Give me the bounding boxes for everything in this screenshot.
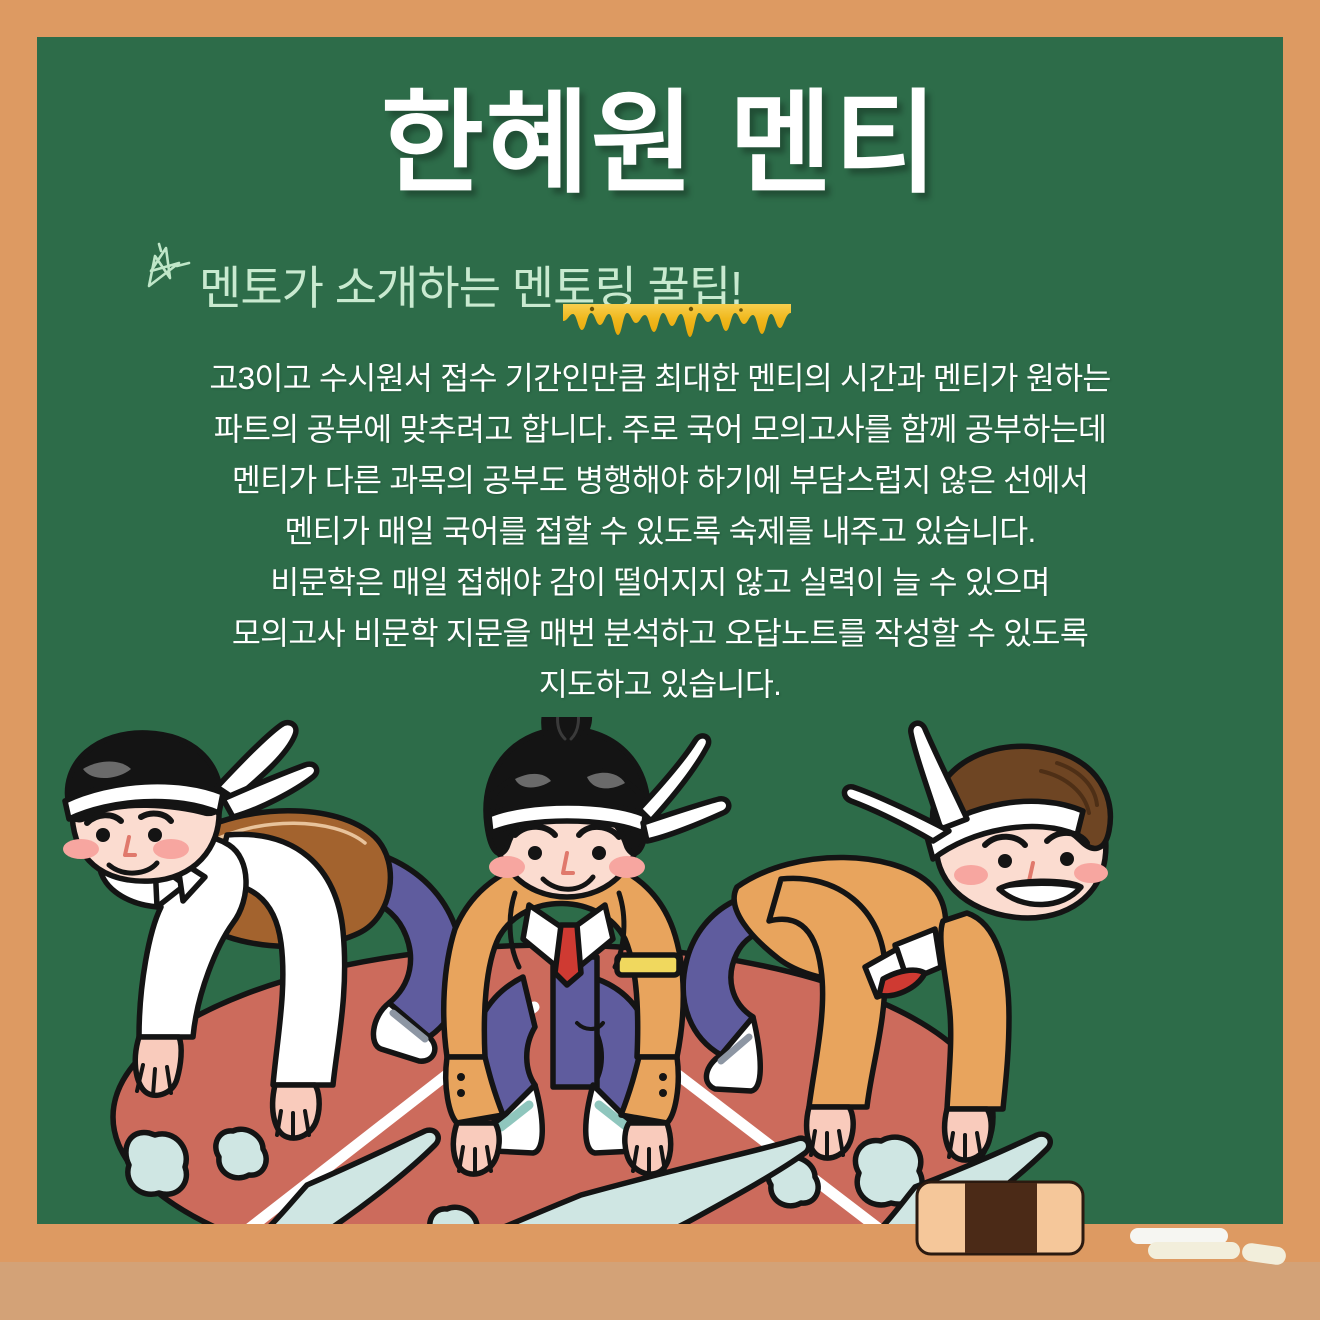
honey-drip-underline (563, 304, 791, 350)
subtitle-row: 멘토가 소개하는 멘토링 꿀팁! (135, 242, 742, 318)
chalk-broken-piece (1241, 1242, 1287, 1266)
three-students-at-starting-line-illustration (37, 717, 1283, 1224)
body-line: 멘티가 다른 과목의 공부도 병행해야 하기에 부담스럽지 않은 선에서 (147, 455, 1173, 506)
chalk-white (1130, 1228, 1228, 1244)
poster-card: 한혜원 멘티 멘토가 소개하는 멘토링 꿀팁! (0, 0, 1320, 1320)
body-line: 멘티가 매일 국어를 접할 수 있도록 숙제를 내주고 있습니다. (147, 506, 1173, 557)
page-title: 한혜원 멘티 (37, 85, 1283, 203)
blackboard-eraser (915, 1180, 1085, 1256)
sparkle-star-icon (135, 242, 193, 304)
chalk-cream (1148, 1242, 1240, 1259)
body-line: 지도하고 있습니다. (147, 659, 1173, 710)
blackboard: 한혜원 멘티 멘토가 소개하는 멘토링 꿀팁! (37, 37, 1283, 1224)
body-line: 모의고사 비문학 지문을 매번 분석하고 오답노트를 작성할 수 있도록 (147, 608, 1173, 659)
subtitle-wrap: 멘토가 소개하는 멘토링 꿀팁! (199, 252, 742, 318)
body-line: 파트의 공부에 맞추려고 합니다. 주로 국어 모의고사를 함께 공부하는데 (147, 404, 1173, 455)
chalk-pieces (1130, 1222, 1310, 1278)
body-line: 비문학은 매일 접해야 감이 떨어지지 않고 실력이 늘 수 있으며 (147, 557, 1173, 608)
chalk-ledge (0, 1262, 1320, 1320)
body-line: 고3이고 수시원서 접수 기간인만큼 최대한 멘티의 시간과 멘티가 원하는 (147, 353, 1173, 404)
body-paragraph: 고3이고 수시원서 접수 기간인만큼 최대한 멘티의 시간과 멘티가 원하는 파… (37, 353, 1283, 710)
name-badge (617, 955, 679, 975)
